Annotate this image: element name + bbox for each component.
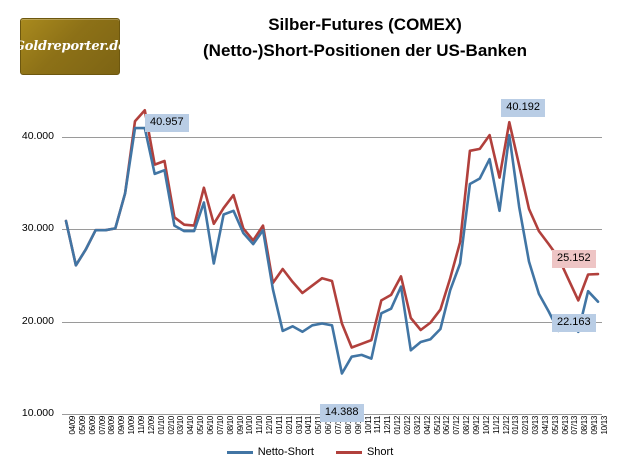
chart-legend: Netto-ShortShort (0, 446, 620, 458)
x-tick-label: 11/10 (256, 416, 264, 434)
x-tick-label: 12/11 (384, 416, 392, 434)
callout-14.388: 14.388 (320, 404, 364, 422)
x-tick-label: 09/10 (237, 416, 245, 435)
x-tick-label: 12/10 (266, 416, 274, 435)
x-tick-label: 01/11 (276, 416, 284, 434)
x-tick-label: 05/09 (79, 416, 87, 435)
y-tick-label: 30.000 (0, 222, 54, 234)
callout-40.957: 40.957 (145, 114, 189, 132)
y-tick-label: 20.000 (0, 315, 54, 327)
x-tick-label: 01/12 (394, 416, 402, 435)
x-tick-label: 04/13 (542, 416, 550, 435)
x-tick-label: 03/13 (532, 416, 540, 435)
x-tick-label: 10/11 (365, 416, 373, 434)
x-tick-label: 10/12 (483, 416, 491, 435)
series-lines (62, 100, 602, 414)
legend-item-netto-short[interactable]: Netto-Short (227, 446, 314, 458)
x-tick-label: 07/13 (571, 416, 579, 435)
x-tick-label: 11/12 (493, 416, 501, 434)
chart-title-line-1: Silber-Futures (COMEX) (130, 12, 600, 38)
x-tick-label: 11/09 (138, 416, 146, 434)
series-line-short (66, 110, 598, 347)
callout-40.192: 40.192 (501, 99, 545, 117)
x-tick-label: 02/11 (286, 416, 294, 434)
x-tick-label: 10/09 (128, 416, 136, 435)
x-tick-label: 06/12 (443, 416, 451, 435)
x-tick-label: 06/10 (207, 416, 215, 435)
goldreporter-logo: Goldreporter.de (20, 18, 120, 75)
plot-area (62, 100, 602, 414)
legend-label: Short (367, 446, 393, 458)
x-tick-label: 03/10 (177, 416, 185, 435)
x-tick-label: 02/13 (522, 416, 530, 435)
x-tick-label: 08/09 (108, 416, 116, 435)
x-tick-label: 04/11 (305, 416, 313, 434)
chart-header: Goldreporter.de Silber-Futures (COMEX) (… (0, 0, 620, 86)
legend-swatch-icon (227, 451, 253, 454)
chart-title-line-2: (Netto-)Short-Positionen der US-Banken (130, 38, 600, 64)
x-tick-label: 03/11 (296, 416, 304, 434)
page-title: Silber-Futures (COMEX) (Netto-)Short-Pos… (130, 12, 600, 64)
x-tick-label: 07/12 (453, 416, 461, 435)
callout-22.163: 22.163 (552, 314, 596, 332)
x-tick-label: 02/10 (168, 416, 176, 435)
x-tick-label: 10/10 (246, 416, 254, 435)
x-tick-label: 04/12 (424, 416, 432, 435)
x-tick-label: 07/09 (99, 416, 107, 435)
x-tick-label: 01/10 (158, 416, 166, 435)
chart-area: 10.00020.00030.00040.000 04/0905/0906/09… (0, 86, 620, 472)
x-tick-label: 05/10 (197, 416, 205, 435)
callout-25.152: 25.152 (552, 250, 596, 268)
x-tick-label: 09/13 (591, 416, 599, 435)
x-tick-label: 08/10 (227, 416, 235, 435)
x-tick-label: 10/13 (601, 416, 609, 435)
x-tick-label: 05/12 (434, 416, 442, 435)
x-tick-label: 06/09 (89, 416, 97, 435)
x-tick-label: 03/12 (414, 416, 422, 435)
legend-swatch-icon (336, 451, 362, 454)
x-tick-label: 09/09 (118, 416, 126, 435)
logo-text: Goldreporter.de (14, 39, 126, 54)
y-tick-label: 40.000 (0, 130, 54, 142)
x-tick-label: 09/12 (473, 416, 481, 435)
x-tick-label: 05/13 (552, 416, 560, 435)
x-tick-label: 12/12 (503, 416, 511, 435)
y-tick-label: 10.000 (0, 407, 54, 419)
x-tick-label: 04/09 (69, 416, 77, 435)
x-tick-label: 02/12 (404, 416, 412, 435)
x-tick-label: 08/13 (581, 416, 589, 435)
x-tick-label: 11/11 (374, 416, 382, 433)
x-tick-label: 08/12 (463, 416, 471, 435)
x-tick-label: 07/10 (217, 416, 225, 435)
x-tick-label: 04/10 (187, 416, 195, 435)
x-tick-label: 12/09 (148, 416, 156, 435)
x-tick-label: 06/13 (562, 416, 570, 435)
legend-label: Netto-Short (258, 446, 314, 458)
legend-item-short[interactable]: Short (336, 446, 393, 458)
x-tick-label: 01/13 (512, 416, 520, 435)
